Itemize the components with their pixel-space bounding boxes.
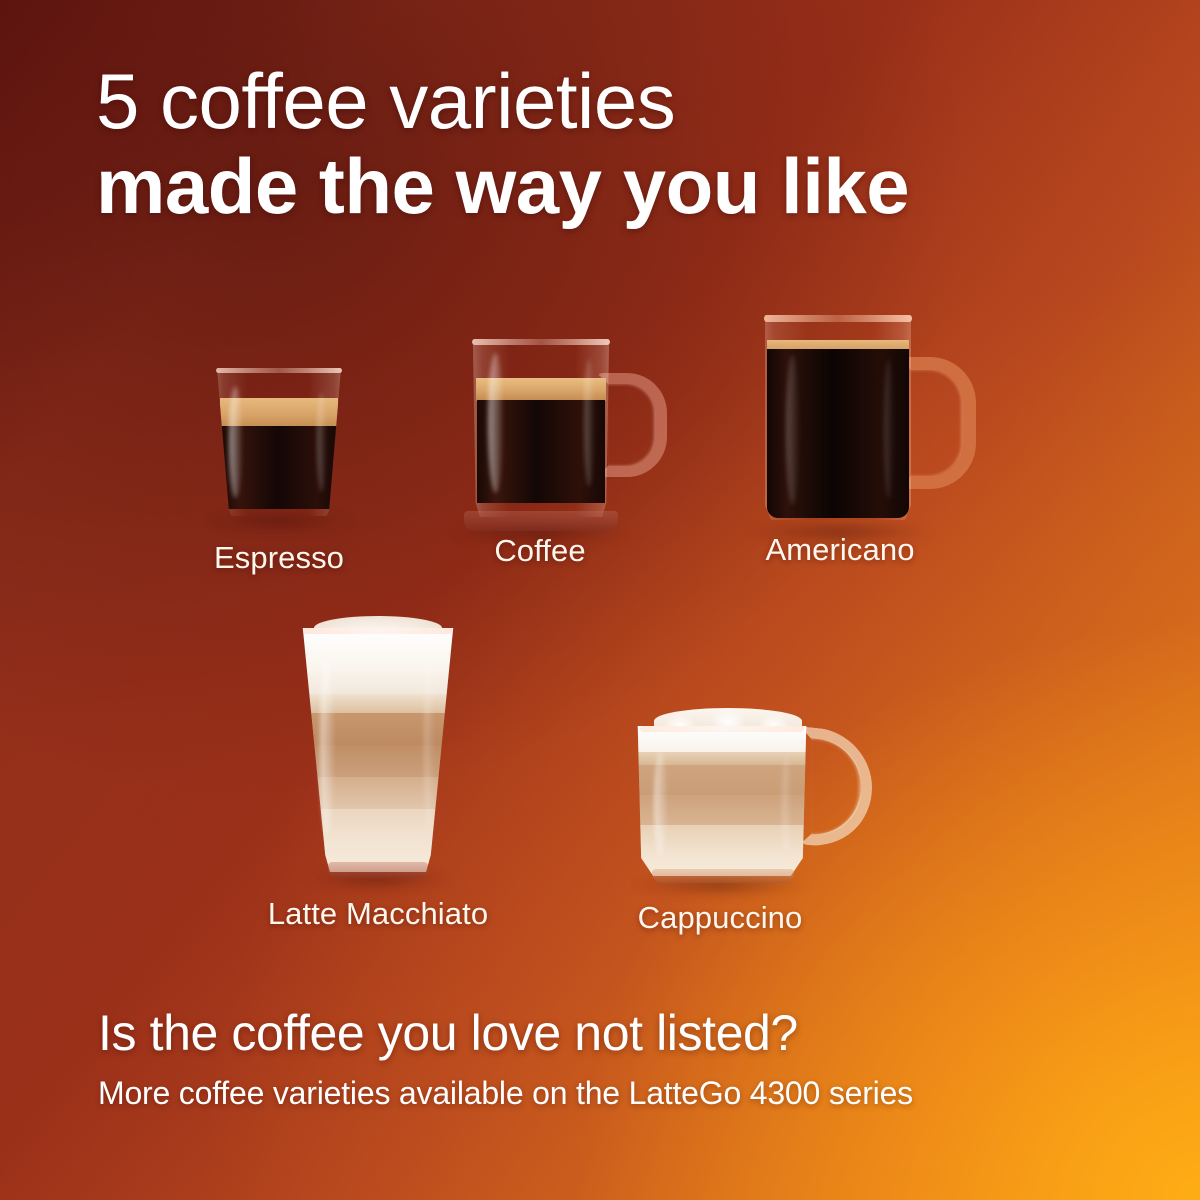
cappuccino-cup-base	[652, 869, 794, 883]
drink-label-cappuccino: Cappuccino	[638, 900, 803, 936]
cappuccino-layer-coffee-top	[636, 765, 808, 795]
drink-label-coffee: Coffee	[494, 533, 585, 569]
cappuccino-glass-body	[636, 726, 808, 876]
drink-label-americano: Americano	[765, 532, 914, 568]
headline-line-1: 5 coffee varieties	[96, 62, 1126, 142]
coffee-crema-layer	[476, 378, 607, 401]
drink-cappuccino: Cappuccino	[632, 708, 872, 883]
drink-label-latte-macchiato: Latte Macchiato	[268, 896, 488, 932]
cappuccino-layer-coffee-mid	[636, 795, 808, 825]
cappuccino-cup-rim	[640, 726, 804, 732]
espresso-cup-icon	[213, 368, 345, 523]
drink-americano: Americano	[756, 315, 976, 530]
headline-block: 5 coffee varieties made the way you like	[96, 62, 1126, 230]
americano-mug-icon	[756, 315, 976, 530]
latte-layer-foam-edge	[298, 694, 458, 714]
footer-subtext: More coffee varieties available on the L…	[98, 1075, 1118, 1112]
latte-layer-foam	[298, 628, 458, 694]
drink-latte-macchiato: Latte Macchiato	[298, 616, 458, 878]
coffee-mug-base	[464, 511, 618, 531]
espresso-glass-rim	[216, 368, 343, 373]
americano-mug-rim	[764, 315, 912, 322]
espresso-crema-layer	[220, 398, 339, 428]
drink-espresso: Espresso	[213, 368, 345, 523]
latte-glass-rim	[303, 628, 453, 634]
footer-question: Is the coffee you love not listed?	[98, 1004, 1118, 1063]
headline-line-2: made the way you like	[96, 142, 1126, 231]
coffee-glass-body	[470, 339, 612, 517]
latte-glass-base	[328, 862, 428, 878]
espresso-coffee-layer	[221, 426, 337, 509]
cappuccino-cup-icon	[632, 708, 872, 883]
latte-layer-coffee-mid	[298, 745, 458, 777]
poster-canvas: 5 coffee varieties made the way you like…	[0, 0, 1200, 1200]
footer-block: Is the coffee you love not listed? More …	[98, 1004, 1118, 1112]
latte-macchiato-glass-icon	[298, 616, 458, 878]
espresso-glass-body	[213, 368, 345, 516]
coffee-mug-icon	[462, 333, 667, 531]
latte-layer-coffee-milk	[298, 777, 458, 809]
latte-glass-body	[298, 628, 458, 872]
coffee-liquid-layer	[477, 400, 605, 503]
drink-label-espresso: Espresso	[214, 540, 344, 576]
drink-coffee: Coffee	[462, 333, 667, 531]
americano-glass-body	[762, 315, 914, 520]
coffee-mug-rim	[472, 339, 610, 345]
cappuccino-layer-foam-edge	[636, 752, 808, 766]
cappuccino-cup-handle	[800, 726, 872, 852]
americano-coffee-layer	[767, 349, 910, 518]
latte-layer-coffee-top	[298, 713, 458, 745]
